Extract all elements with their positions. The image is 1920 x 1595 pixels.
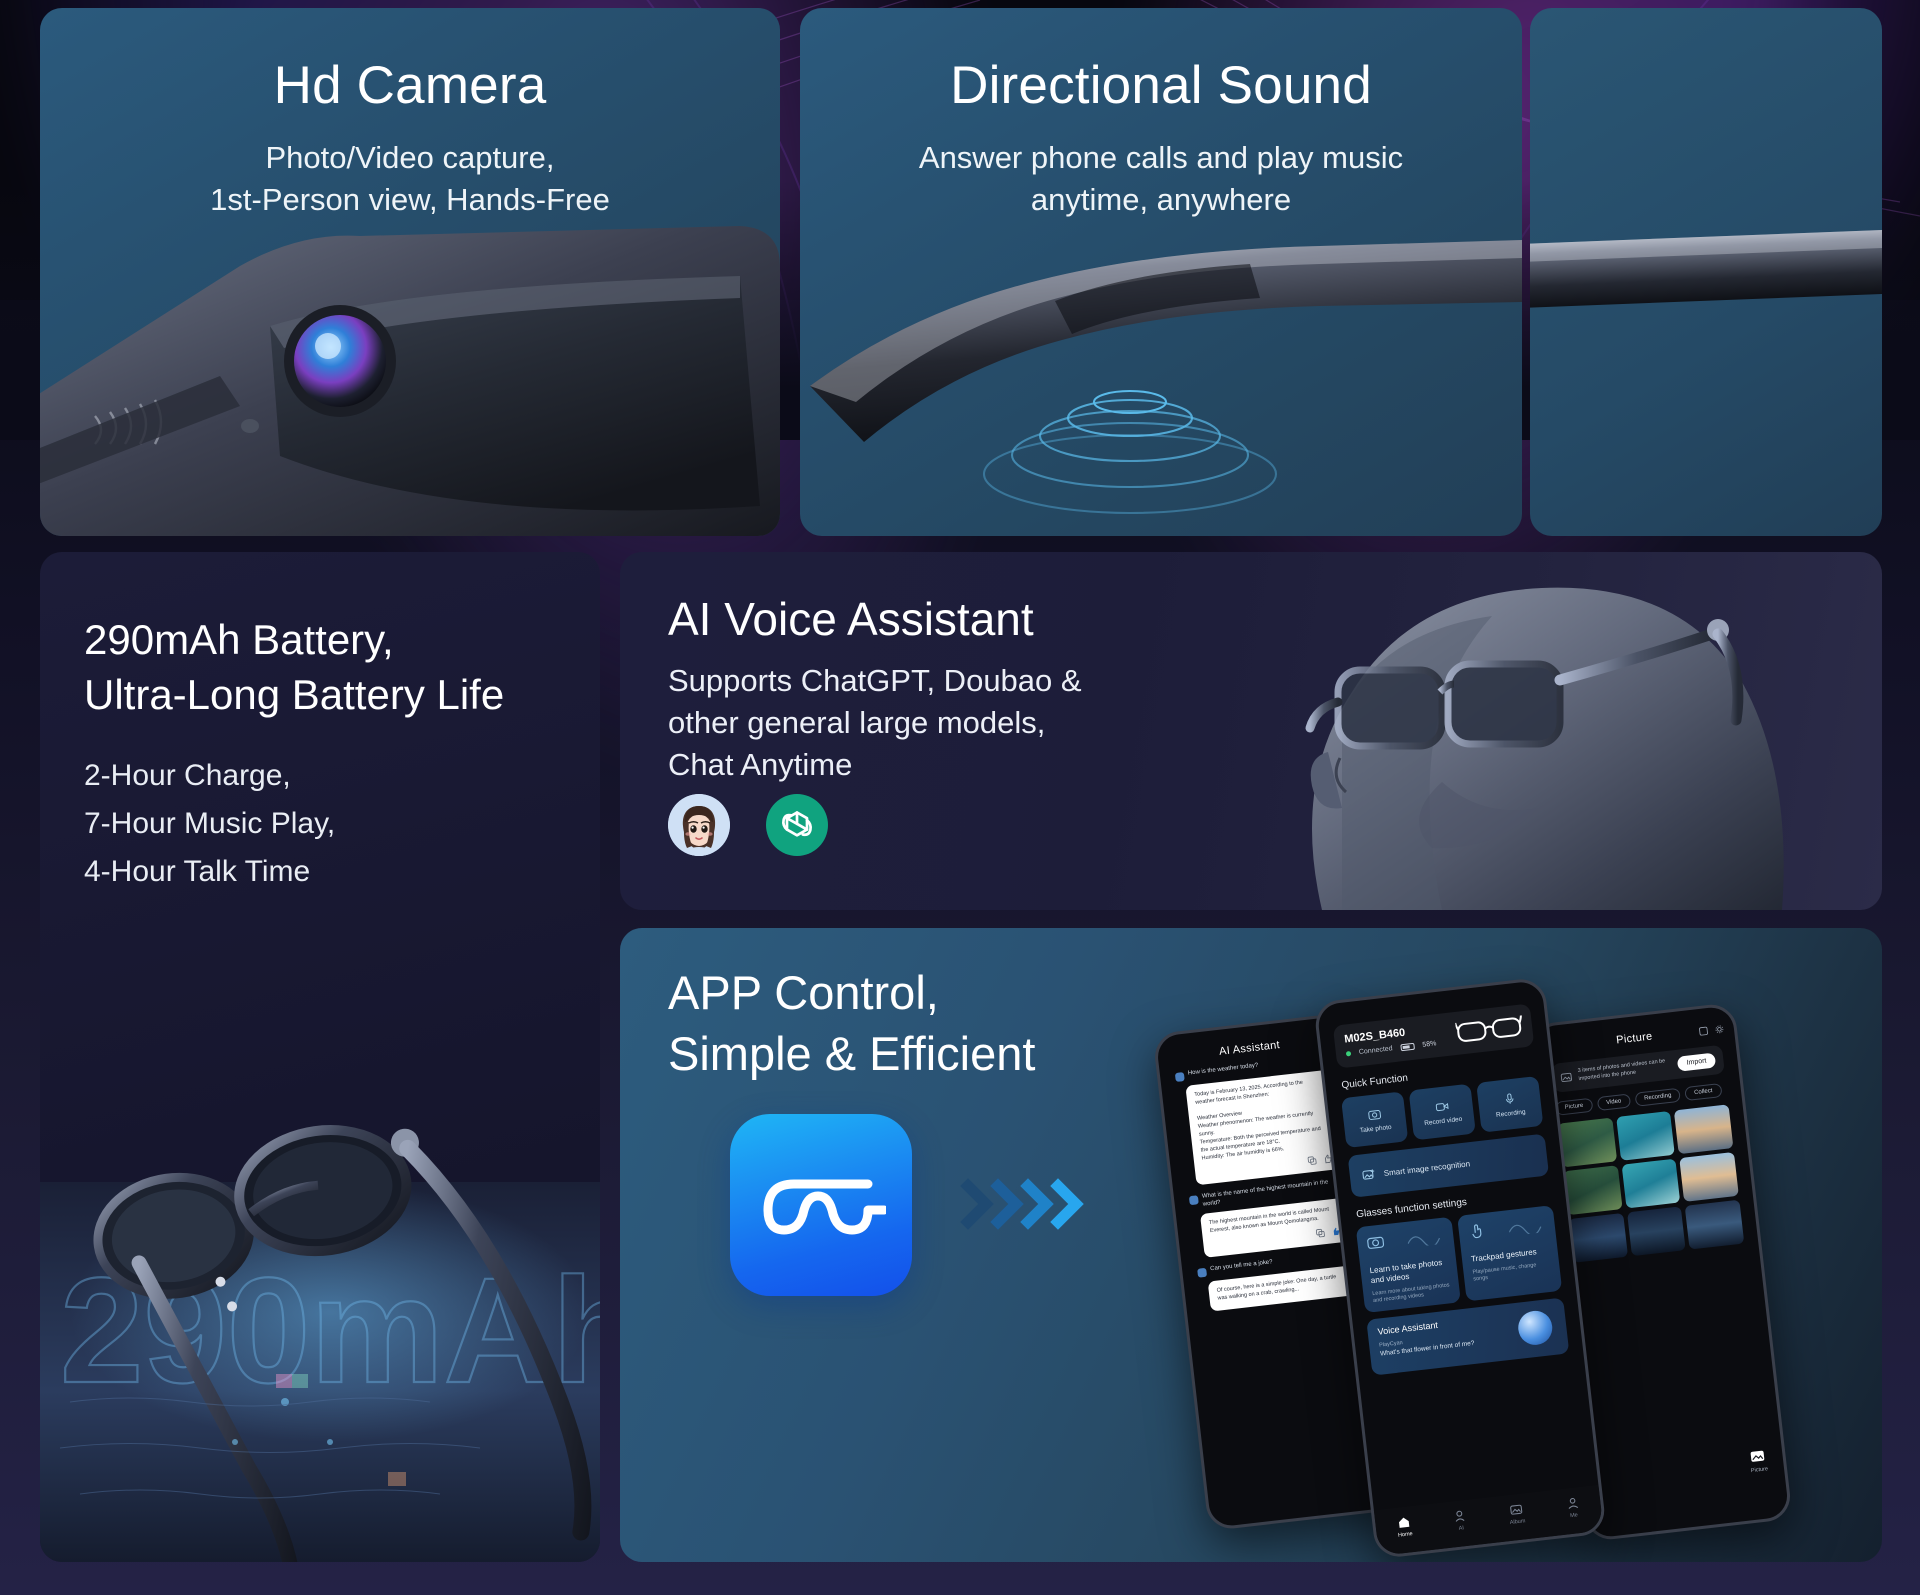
quick-action-recording[interactable]: Recording — [1476, 1076, 1543, 1133]
gear-icon[interactable] — [1714, 1024, 1724, 1034]
hd-camera-glasses-image — [40, 206, 780, 536]
gallery-thumb[interactable] — [1621, 1159, 1680, 1209]
card-directional-sound-right-panel — [1530, 8, 1882, 536]
temple-continuation-image — [1530, 8, 1882, 536]
microphone-icon — [1502, 1091, 1516, 1105]
app-control-title-line1: APP Control, — [668, 962, 1035, 1023]
chip-recording[interactable]: Recording — [1634, 1088, 1681, 1107]
ai-icon — [1453, 1509, 1467, 1523]
ai-voice-body: Supports ChatGPT, Doubao & other general… — [668, 660, 1082, 786]
gallery-thumb[interactable] — [1563, 1165, 1622, 1215]
card-battery: 290mAh Battery, Ultra-Long Battery Life … — [40, 552, 600, 1562]
chat-answer-bubble: Today is February 13, 2025. According to… — [1185, 1070, 1340, 1185]
ai-voice-body-line3: Chat Anytime — [668, 744, 1082, 786]
home-icon — [1397, 1515, 1411, 1529]
chevron-3-icon — [1028, 1186, 1046, 1222]
directional-sound-temple-image — [800, 206, 1522, 536]
quick-action-label: Take photo — [1359, 1123, 1391, 1134]
setting-tile-trackpad[interactable]: Trackpad gestures Play/pause music, chan… — [1457, 1205, 1562, 1301]
chevron-2-icon — [998, 1186, 1016, 1222]
tab-label: Me — [1570, 1512, 1578, 1519]
tab-home[interactable]: Home — [1396, 1515, 1413, 1539]
battery-spec-charge: 2-Hour Charge, — [84, 752, 335, 800]
setting-tile-sub: Play/pause music, change songs — [1472, 1261, 1551, 1284]
chat-avatar-icon — [1189, 1195, 1199, 1205]
chat-answer-text: Today is February 13, 2025. According to… — [1194, 1077, 1330, 1163]
glasses-settings-row: Learn to take photos and videos Learn mo… — [1356, 1205, 1562, 1313]
wave-decoration-icon — [1508, 1216, 1550, 1236]
battery-glasses-image: 290mAh — [40, 882, 600, 1562]
card-hd-camera: Hd Camera Photo/Video capture, 1st-Perso… — [40, 8, 780, 536]
directional-sound-subtitle-line1: Answer phone calls and play music — [800, 137, 1522, 179]
battery-spec-list: 2-Hour Charge, 7-Hour Music Play, 4-Hour… — [84, 752, 335, 896]
camera-outline-icon — [1366, 1232, 1386, 1252]
battery-title-line2: Ultra-Long Battery Life — [84, 667, 504, 722]
quick-action-label: Record video — [1424, 1115, 1463, 1126]
device-status-card[interactable]: M02S_B460 Connected 58% — [1333, 1003, 1535, 1068]
camera-icon — [1367, 1107, 1381, 1121]
quick-action-label: Recording — [1496, 1108, 1526, 1118]
quick-action-record-video[interactable]: Record video — [1409, 1084, 1476, 1141]
chat-question-text: Can you tell me a joke? — [1210, 1259, 1273, 1274]
hd-camera-text-block: Hd Camera Photo/Video capture, 1st-Perso… — [40, 8, 780, 221]
card-directional-sound: Directional Sound Answer phone calls and… — [800, 8, 1522, 536]
gallery-thumb[interactable] — [1558, 1118, 1617, 1168]
chip-picture[interactable]: Picture — [1555, 1098, 1593, 1116]
tab-label: Album — [1510, 1518, 1526, 1526]
glasses-outline-icon — [1455, 1012, 1526, 1046]
gallery-thumb[interactable] — [1685, 1200, 1744, 1250]
card-ai-voice-assistant: AI Voice Assistant Supports ChatGPT, Dou… — [620, 552, 1882, 910]
gallery-icon — [1560, 1070, 1573, 1083]
connection-status: Connected — [1359, 1045, 1393, 1056]
ai-voice-mannequin-image — [1142, 552, 1882, 910]
gallery-thumb[interactable] — [1568, 1213, 1627, 1263]
copy-icon[interactable] — [1307, 1155, 1317, 1165]
chat-avatar-icon — [1197, 1268, 1207, 1278]
tab-ai[interactable]: AI — [1453, 1509, 1468, 1532]
hd-camera-title: Hd Camera — [40, 56, 780, 115]
flow-chevrons — [960, 1176, 1088, 1232]
gallery-thumb[interactable] — [1674, 1104, 1733, 1154]
chip-video[interactable]: Video — [1596, 1093, 1631, 1111]
directional-sound-title: Directional Sound — [800, 56, 1522, 115]
gallery-grid — [1558, 1104, 1745, 1263]
status-dot-icon — [1346, 1051, 1352, 1057]
tab-album[interactable]: Album — [1508, 1502, 1526, 1526]
card-app-control: APP Control, Simple & Efficient — [620, 928, 1882, 1562]
ai-voice-body-line1: Supports ChatGPT, Doubao & — [668, 660, 1082, 702]
bottom-tab-bar: Home AI Album Me — [1374, 1485, 1604, 1556]
chevron-4-icon — [1058, 1186, 1076, 1222]
battery-title: 290mAh Battery, Ultra-Long Battery Life — [84, 612, 504, 723]
battery-percent: 58% — [1422, 1040, 1437, 1049]
import-notice-text: 3 items of photos and videos can be impo… — [1577, 1058, 1672, 1083]
import-button[interactable]: Import — [1677, 1053, 1716, 1072]
tab-label: AI — [1458, 1525, 1464, 1532]
chat-answer-text: Of course, here is a simple joke: One da… — [1216, 1273, 1346, 1303]
gallery-album-label: Picture — [1751, 1466, 1769, 1474]
ai-voice-title: AI Voice Assistant — [668, 592, 1034, 646]
setting-tile-sub: Learn more about taking photos and recor… — [1372, 1282, 1451, 1305]
hd-camera-subtitle-line1: Photo/Video capture, — [40, 137, 780, 179]
app-control-title: APP Control, Simple & Efficient — [668, 962, 1035, 1084]
gallery-thumb[interactable] — [1616, 1111, 1675, 1161]
battery-icon — [1400, 1043, 1415, 1052]
chat-question-text: How is the weather today? — [1188, 1063, 1259, 1079]
tab-me[interactable]: Me — [1565, 1496, 1580, 1519]
chip-collect[interactable]: Collect — [1685, 1083, 1723, 1101]
person-icon — [1565, 1496, 1579, 1510]
gallery-thumb[interactable] — [1627, 1206, 1686, 1256]
setting-tile-title: Learn to take photos and videos — [1369, 1257, 1449, 1286]
battery-title-line1: 290mAh Battery, — [84, 612, 504, 667]
gallery-album-shortcut[interactable]: Picture — [1749, 1447, 1769, 1474]
ai-voice-partner-icons — [668, 794, 828, 856]
album-icon — [1509, 1502, 1523, 1516]
chevron-1-icon — [968, 1186, 986, 1222]
album-icon — [1749, 1447, 1767, 1465]
tab-label: Home — [1398, 1531, 1413, 1539]
image-recognition-icon — [1361, 1167, 1376, 1182]
select-icon[interactable] — [1699, 1026, 1709, 1036]
setting-tile-learn-photos[interactable]: Learn to take photos and videos Learn mo… — [1356, 1217, 1461, 1313]
doubao-avatar-icon[interactable] — [668, 794, 730, 856]
gallery-thumb[interactable] — [1680, 1152, 1739, 1202]
app-screenshots-group: AI Assistant How is the weather today? T… — [1168, 970, 1882, 1562]
touch-icon — [1467, 1221, 1487, 1241]
chatgpt-logo-icon[interactable] — [766, 794, 828, 856]
copy-icon[interactable] — [1315, 1228, 1325, 1238]
wave-decoration-icon — [1407, 1227, 1449, 1247]
app-control-title-line2: Simple & Efficient — [668, 1023, 1035, 1084]
smart-image-recognition-label: Smart image recognition — [1383, 1159, 1470, 1178]
chat-avatar-icon — [1175, 1072, 1185, 1082]
glasses-app-icon[interactable] — [730, 1114, 912, 1296]
chat-answer-bubble: The highest mountain in the world is cal… — [1200, 1198, 1349, 1258]
directional-sound-text-block: Directional Sound Answer phone calls and… — [800, 8, 1522, 221]
feature-card-grid: Hd Camera Photo/Video capture, 1st-Perso… — [0, 0, 1920, 1595]
battery-spec-music: 7-Hour Music Play, — [84, 800, 335, 848]
ai-voice-body-line2: other general large models, — [668, 702, 1082, 744]
video-icon — [1434, 1099, 1448, 1113]
quick-action-take-photo[interactable]: Take photo — [1341, 1091, 1408, 1148]
